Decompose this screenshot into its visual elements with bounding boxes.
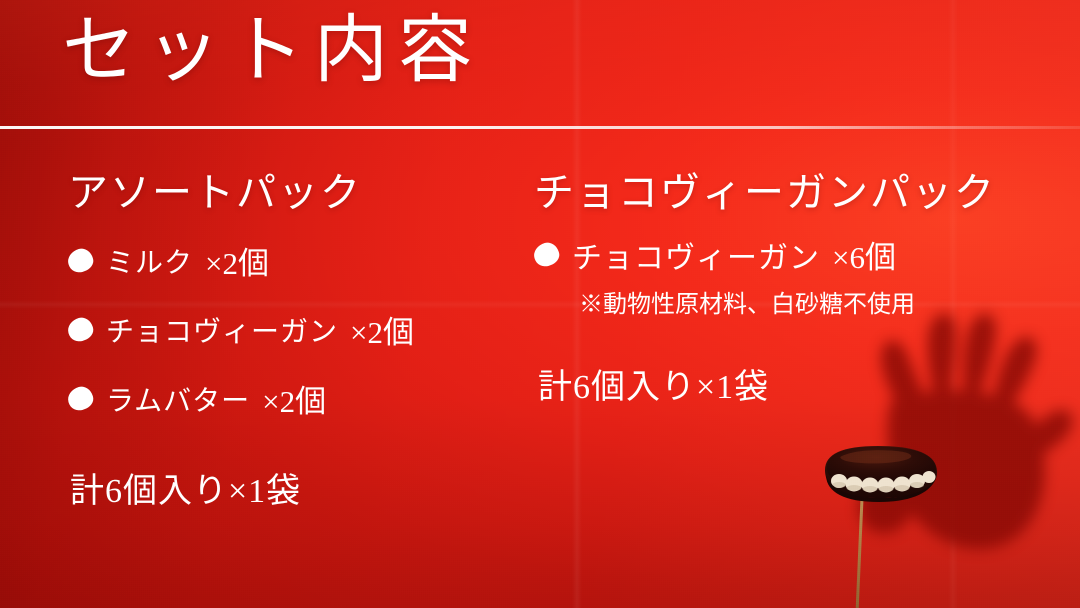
bullet-dot-icon bbox=[65, 384, 95, 413]
pack-item-list-choco-vegan: チョコヴィーガン ×6個 bbox=[534, 232, 1054, 277]
page-title: セット内容 bbox=[62, 14, 482, 88]
list-item: チョコヴィーガン ×6個 bbox=[534, 232, 1054, 277]
item-quantity: ×2個 bbox=[350, 307, 414, 352]
item-name: チョコヴィーガン bbox=[106, 310, 338, 350]
item-name: ミルク bbox=[106, 241, 193, 281]
pack-heading-assort: アソートパック bbox=[68, 172, 538, 214]
product-photo-chocolate-teeth bbox=[816, 440, 946, 608]
ingredient-note: ※動物性原材料、白砂糖不使用 bbox=[579, 284, 1054, 319]
title-divider bbox=[0, 126, 1080, 129]
item-name: ラムバター bbox=[106, 379, 250, 419]
item-quantity: ×2個 bbox=[205, 238, 269, 283]
list-item: ミルク ×2個 bbox=[68, 238, 538, 283]
bullet-dot-icon bbox=[531, 240, 561, 269]
pack-heading-choco-vegan: チョコヴィーガンパック bbox=[534, 172, 1054, 214]
pack-item-list-assort: ミルク ×2個 チョコヴィーガン ×2個 ラムバター ×2個 bbox=[68, 238, 538, 421]
pack-total-choco-vegan: 計6個入り×1袋 bbox=[538, 359, 1054, 408]
item-quantity: ×2個 bbox=[262, 376, 326, 421]
bullet-dot-icon bbox=[65, 315, 95, 344]
bullet-dot-icon bbox=[65, 246, 95, 275]
item-quantity: ×6個 bbox=[832, 232, 896, 277]
list-item: チョコヴィーガン ×2個 bbox=[68, 307, 538, 352]
slide-canvas: セット内容 アソートパック ミルク ×2個 チョコヴィーガン ×2個 ラムバター… bbox=[0, 0, 1080, 608]
pack-column-assort: アソートパック ミルク ×2個 チョコヴィーガン ×2個 ラムバター ×2個 計… bbox=[68, 172, 538, 512]
pack-total-assort: 計6個入り×1袋 bbox=[70, 463, 538, 512]
list-item: ラムバター ×2個 bbox=[68, 376, 538, 421]
item-name: チョコヴィーガン bbox=[572, 233, 820, 277]
pack-column-choco-vegan: チョコヴィーガンパック チョコヴィーガン ×6個 ※動物性原材料、白砂糖不使用 … bbox=[534, 172, 1054, 408]
